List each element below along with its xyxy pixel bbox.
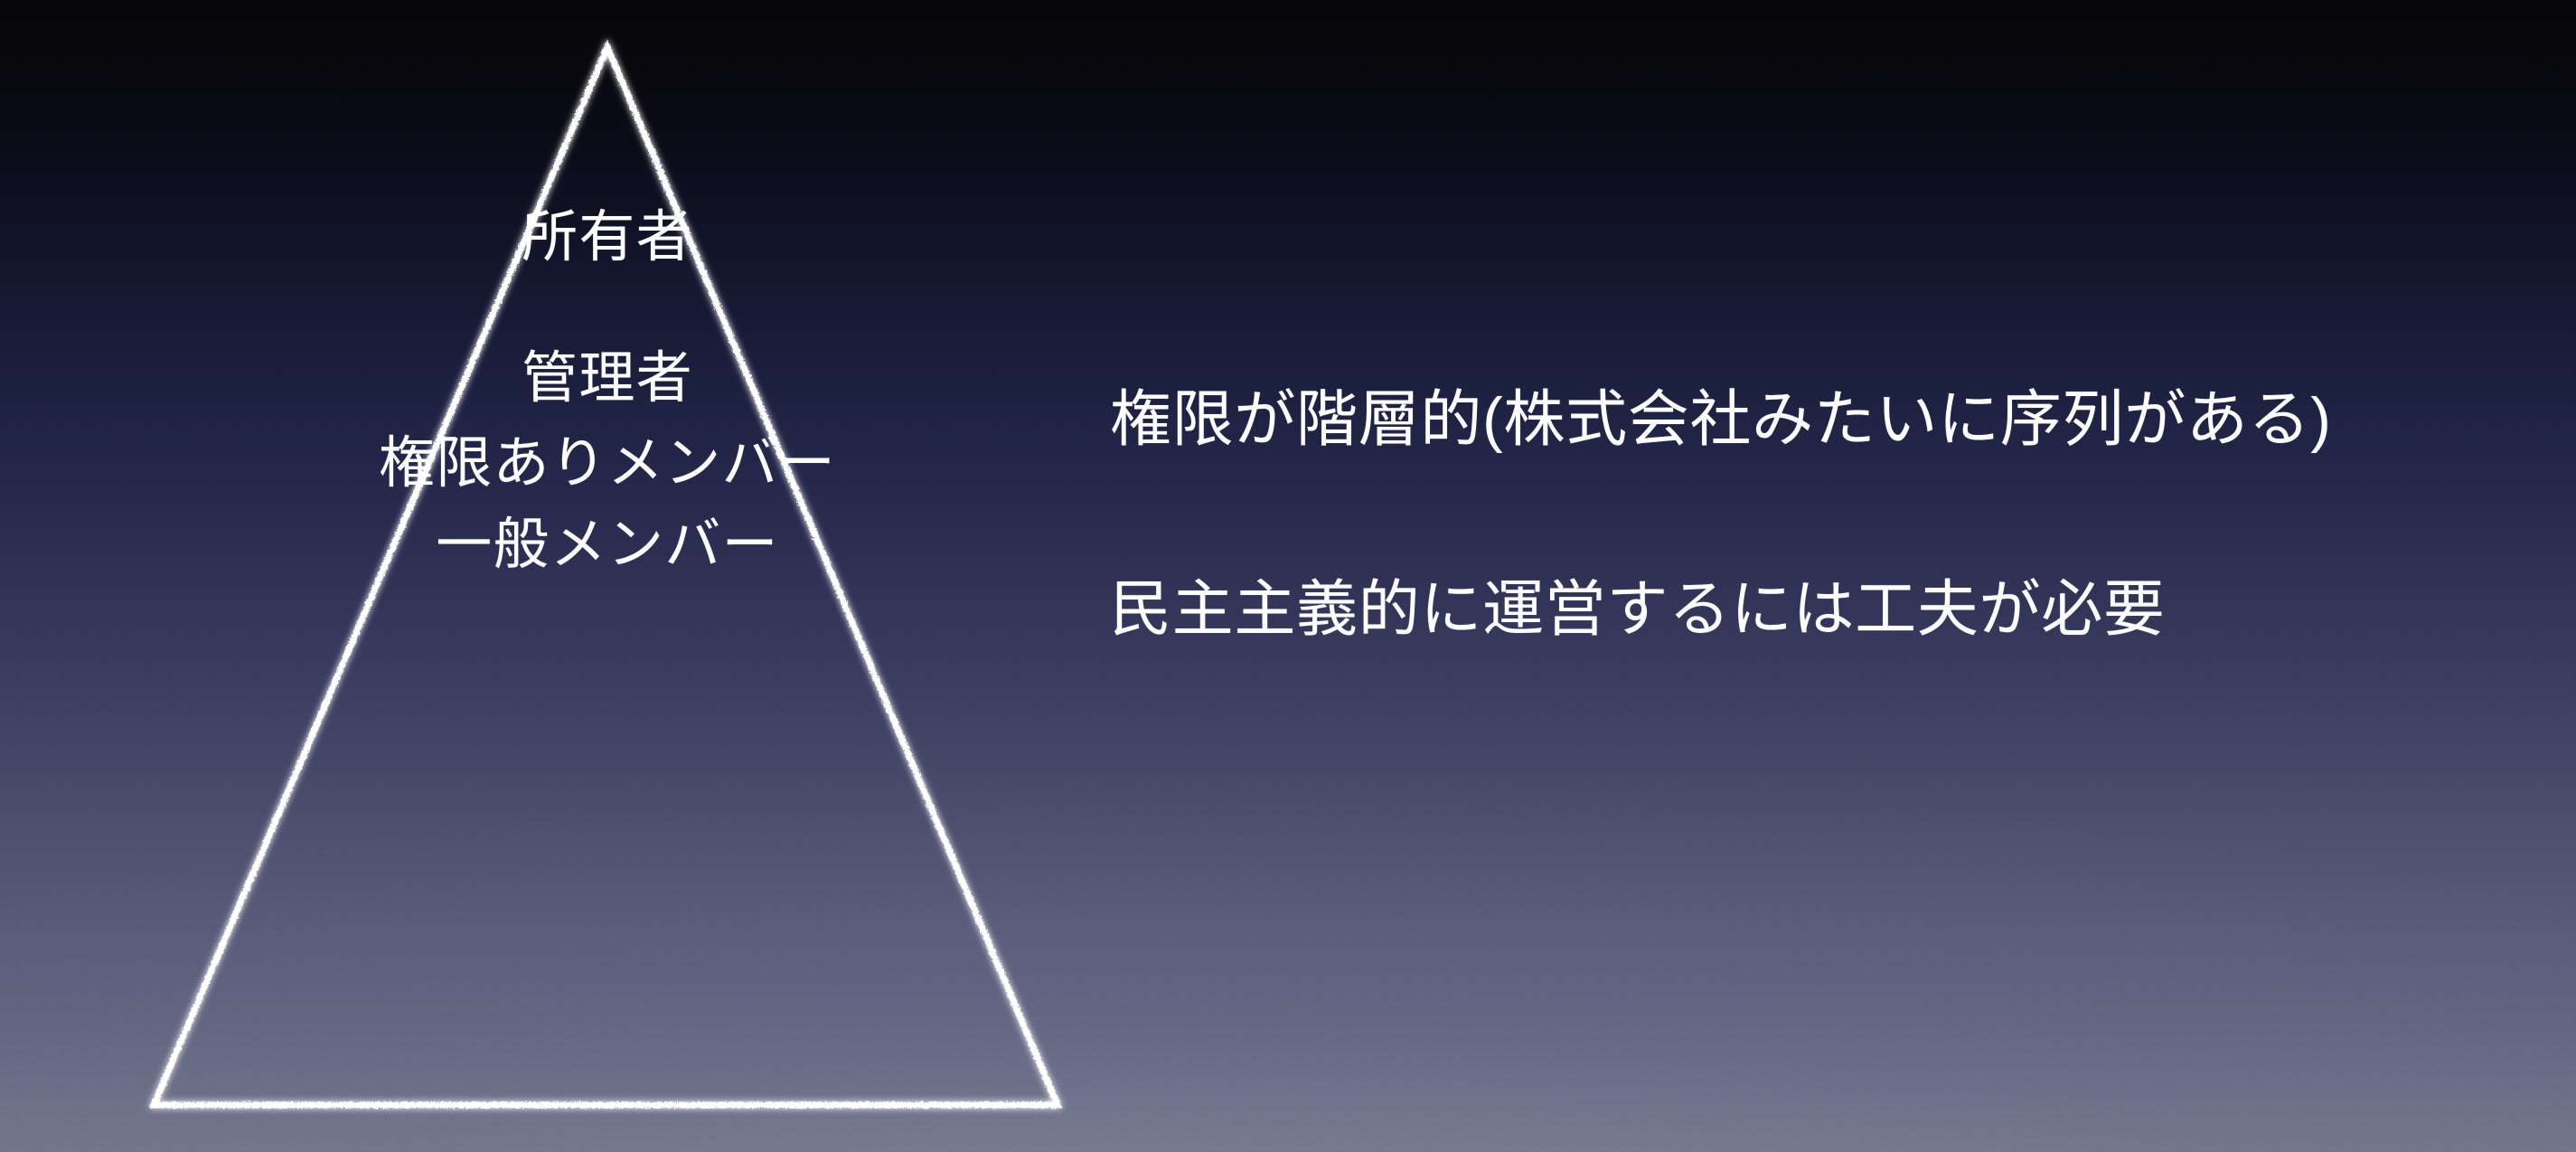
slide-canvas: 所有者 管理者 権限ありメンバー 一般メンバー 権限が階層的(株式会社みたいに序…: [0, 0, 2576, 1152]
pyramid-tier-label-administrator: 管理者: [522, 351, 693, 407]
pyramid-tier-label-general-member: 一般メンバー: [436, 517, 778, 573]
pyramid-tier-label-privileged-member: 権限ありメンバー: [379, 436, 836, 492]
note-line-hierarchical-permissions: 権限が階層的(株式会社みたいに序列がある): [1110, 389, 2332, 450]
pyramid-tier-label-owner: 所有者: [522, 210, 693, 266]
note-line-democratic-operation: 民主主義的に運営するには工夫が必要: [1110, 579, 2166, 640]
